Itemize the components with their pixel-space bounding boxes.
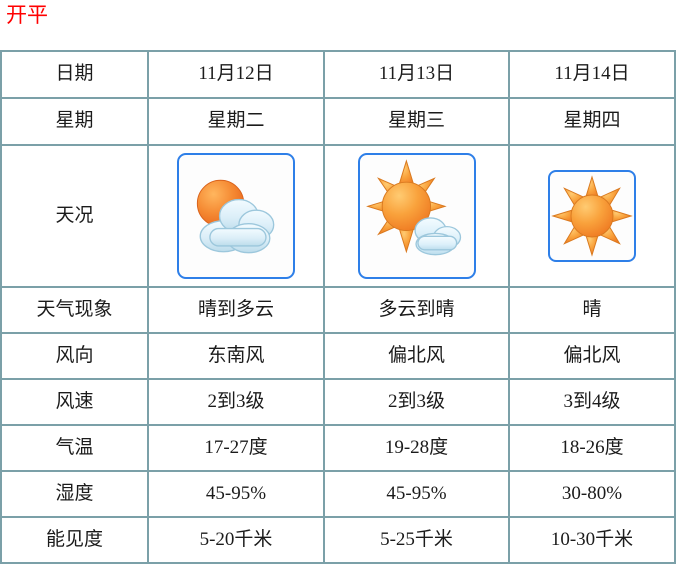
row-label-text: 天况 [2,206,147,227]
cell-weather-phenomenon-day3: 晴 [509,287,675,333]
cell-text: 30-80% [510,484,674,505]
row-label-weekday: 星期 [1,98,148,145]
table-row-humidity: 湿度 45-95% 45-95% 30-80% [1,471,675,517]
cell-weekday-day1: 星期二 [148,98,324,145]
cell-weekday-day3: 星期四 [509,98,675,145]
cell-date-day1: 11月12日 [148,51,324,98]
cell-date-day2: 11月13日 [324,51,509,98]
row-label-text: 天气现象 [2,300,147,321]
cell-temperature-day1: 17-27度 [148,425,324,471]
cell-weather-phenomenon-day1: 晴到多云 [148,287,324,333]
sun-with-small-cloud-glyph [360,155,474,277]
cell-icon-day1 [148,145,324,287]
cell-text: 2到3级 [325,392,508,413]
row-label-wind-direction: 风向 [1,333,148,379]
cell-text: 星期三 [325,111,508,132]
table-row-wind-direction: 风向 东南风 偏北风 偏北风 [1,333,675,379]
row-label-text: 风速 [2,392,147,413]
cell-text: 17-27度 [149,438,323,459]
sun-behind-cloud-glyph [179,155,293,277]
sun-glyph [550,172,634,260]
cell-humidity-day1: 45-95% [148,471,324,517]
row-label-weather-phenomenon: 天气现象 [1,287,148,333]
cell-text: 18-26度 [510,438,674,459]
cell-temperature-day3: 18-26度 [509,425,675,471]
cell-icon-day3 [509,145,675,287]
table-row-wind-speed: 风速 2到3级 2到3级 3到4级 [1,379,675,425]
cell-wind-direction-day2: 偏北风 [324,333,509,379]
table-row-condition-icons: 天况 [1,145,675,287]
table-row-weekday: 星期 星期二 星期三 星期四 [1,98,675,145]
cell-visibility-day2: 5-25千米 [324,517,509,563]
cell-visibility-day3: 10-30千米 [509,517,675,563]
cell-text: 19-28度 [325,438,508,459]
table-row-temperature: 气温 17-27度 19-28度 18-26度 [1,425,675,471]
row-label-text: 星期 [2,111,147,132]
cell-visibility-day1: 5-20千米 [148,517,324,563]
cell-text: 多云到晴 [325,300,508,321]
cell-text: 45-95% [325,484,508,505]
row-label-wind-speed: 风速 [1,379,148,425]
cell-text: 10-30千米 [510,530,674,551]
cell-humidity-day3: 30-80% [509,471,675,517]
weather-forecast-page: 开平 日期 11月12日 11月13日 [0,0,682,557]
cell-wind-direction-day1: 东南风 [148,333,324,379]
cell-text: 晴到多云 [149,300,323,321]
cell-text: 偏北风 [510,346,674,367]
cell-text: 东南风 [149,346,323,367]
cell-icon-day2 [324,145,509,287]
row-label-text: 气温 [2,438,147,459]
cell-wind-speed-day1: 2到3级 [148,379,324,425]
cell-text: 星期四 [510,111,674,132]
cell-text: 5-20千米 [149,530,323,551]
row-label-text: 风向 [2,346,147,367]
table-row-date: 日期 11月12日 11月13日 11月14日 [1,51,675,98]
forecast-table: 日期 11月12日 11月13日 11月14日 星期 [0,50,676,564]
table-row-visibility: 能见度 5-20千米 5-25千米 10-30千米 [1,517,675,563]
cell-date-day3: 11月14日 [509,51,675,98]
cell-text: 3到4级 [510,392,674,413]
cell-wind-speed-day2: 2到3级 [324,379,509,425]
cell-wind-speed-day3: 3到4级 [509,379,675,425]
table-row-weather-phenomenon: 天气现象 晴到多云 多云到晴 晴 [1,287,675,333]
cell-temperature-day2: 19-28度 [324,425,509,471]
row-label-humidity: 湿度 [1,471,148,517]
cell-text: 晴 [510,300,674,321]
cell-text: 11月14日 [510,64,674,85]
row-label-visibility: 能见度 [1,517,148,563]
sun-with-small-cloud-icon [358,153,476,279]
cell-text: 45-95% [149,484,323,505]
row-label-text: 能见度 [2,530,147,551]
row-label-temperature: 气温 [1,425,148,471]
row-label-condition: 天况 [1,145,148,287]
sun-behind-cloud-icon [177,153,295,279]
row-label-text: 湿度 [2,484,147,505]
cell-text: 2到3级 [149,392,323,413]
sun-icon [548,170,636,262]
forecast-table-container: 日期 11月12日 11月13日 11月14日 星期 [0,50,674,564]
page-title: 开平 [6,2,48,28]
cell-text: 星期二 [149,111,323,132]
cell-wind-direction-day3: 偏北风 [509,333,675,379]
cell-text: 11月13日 [325,64,508,85]
cell-weekday-day2: 星期三 [324,98,509,145]
cell-weather-phenomenon-day2: 多云到晴 [324,287,509,333]
cell-humidity-day2: 45-95% [324,471,509,517]
row-label-date: 日期 [1,51,148,98]
cell-text: 5-25千米 [325,530,508,551]
row-label-text: 日期 [2,64,147,85]
cell-text: 偏北风 [325,346,508,367]
cell-text: 11月12日 [149,64,323,85]
